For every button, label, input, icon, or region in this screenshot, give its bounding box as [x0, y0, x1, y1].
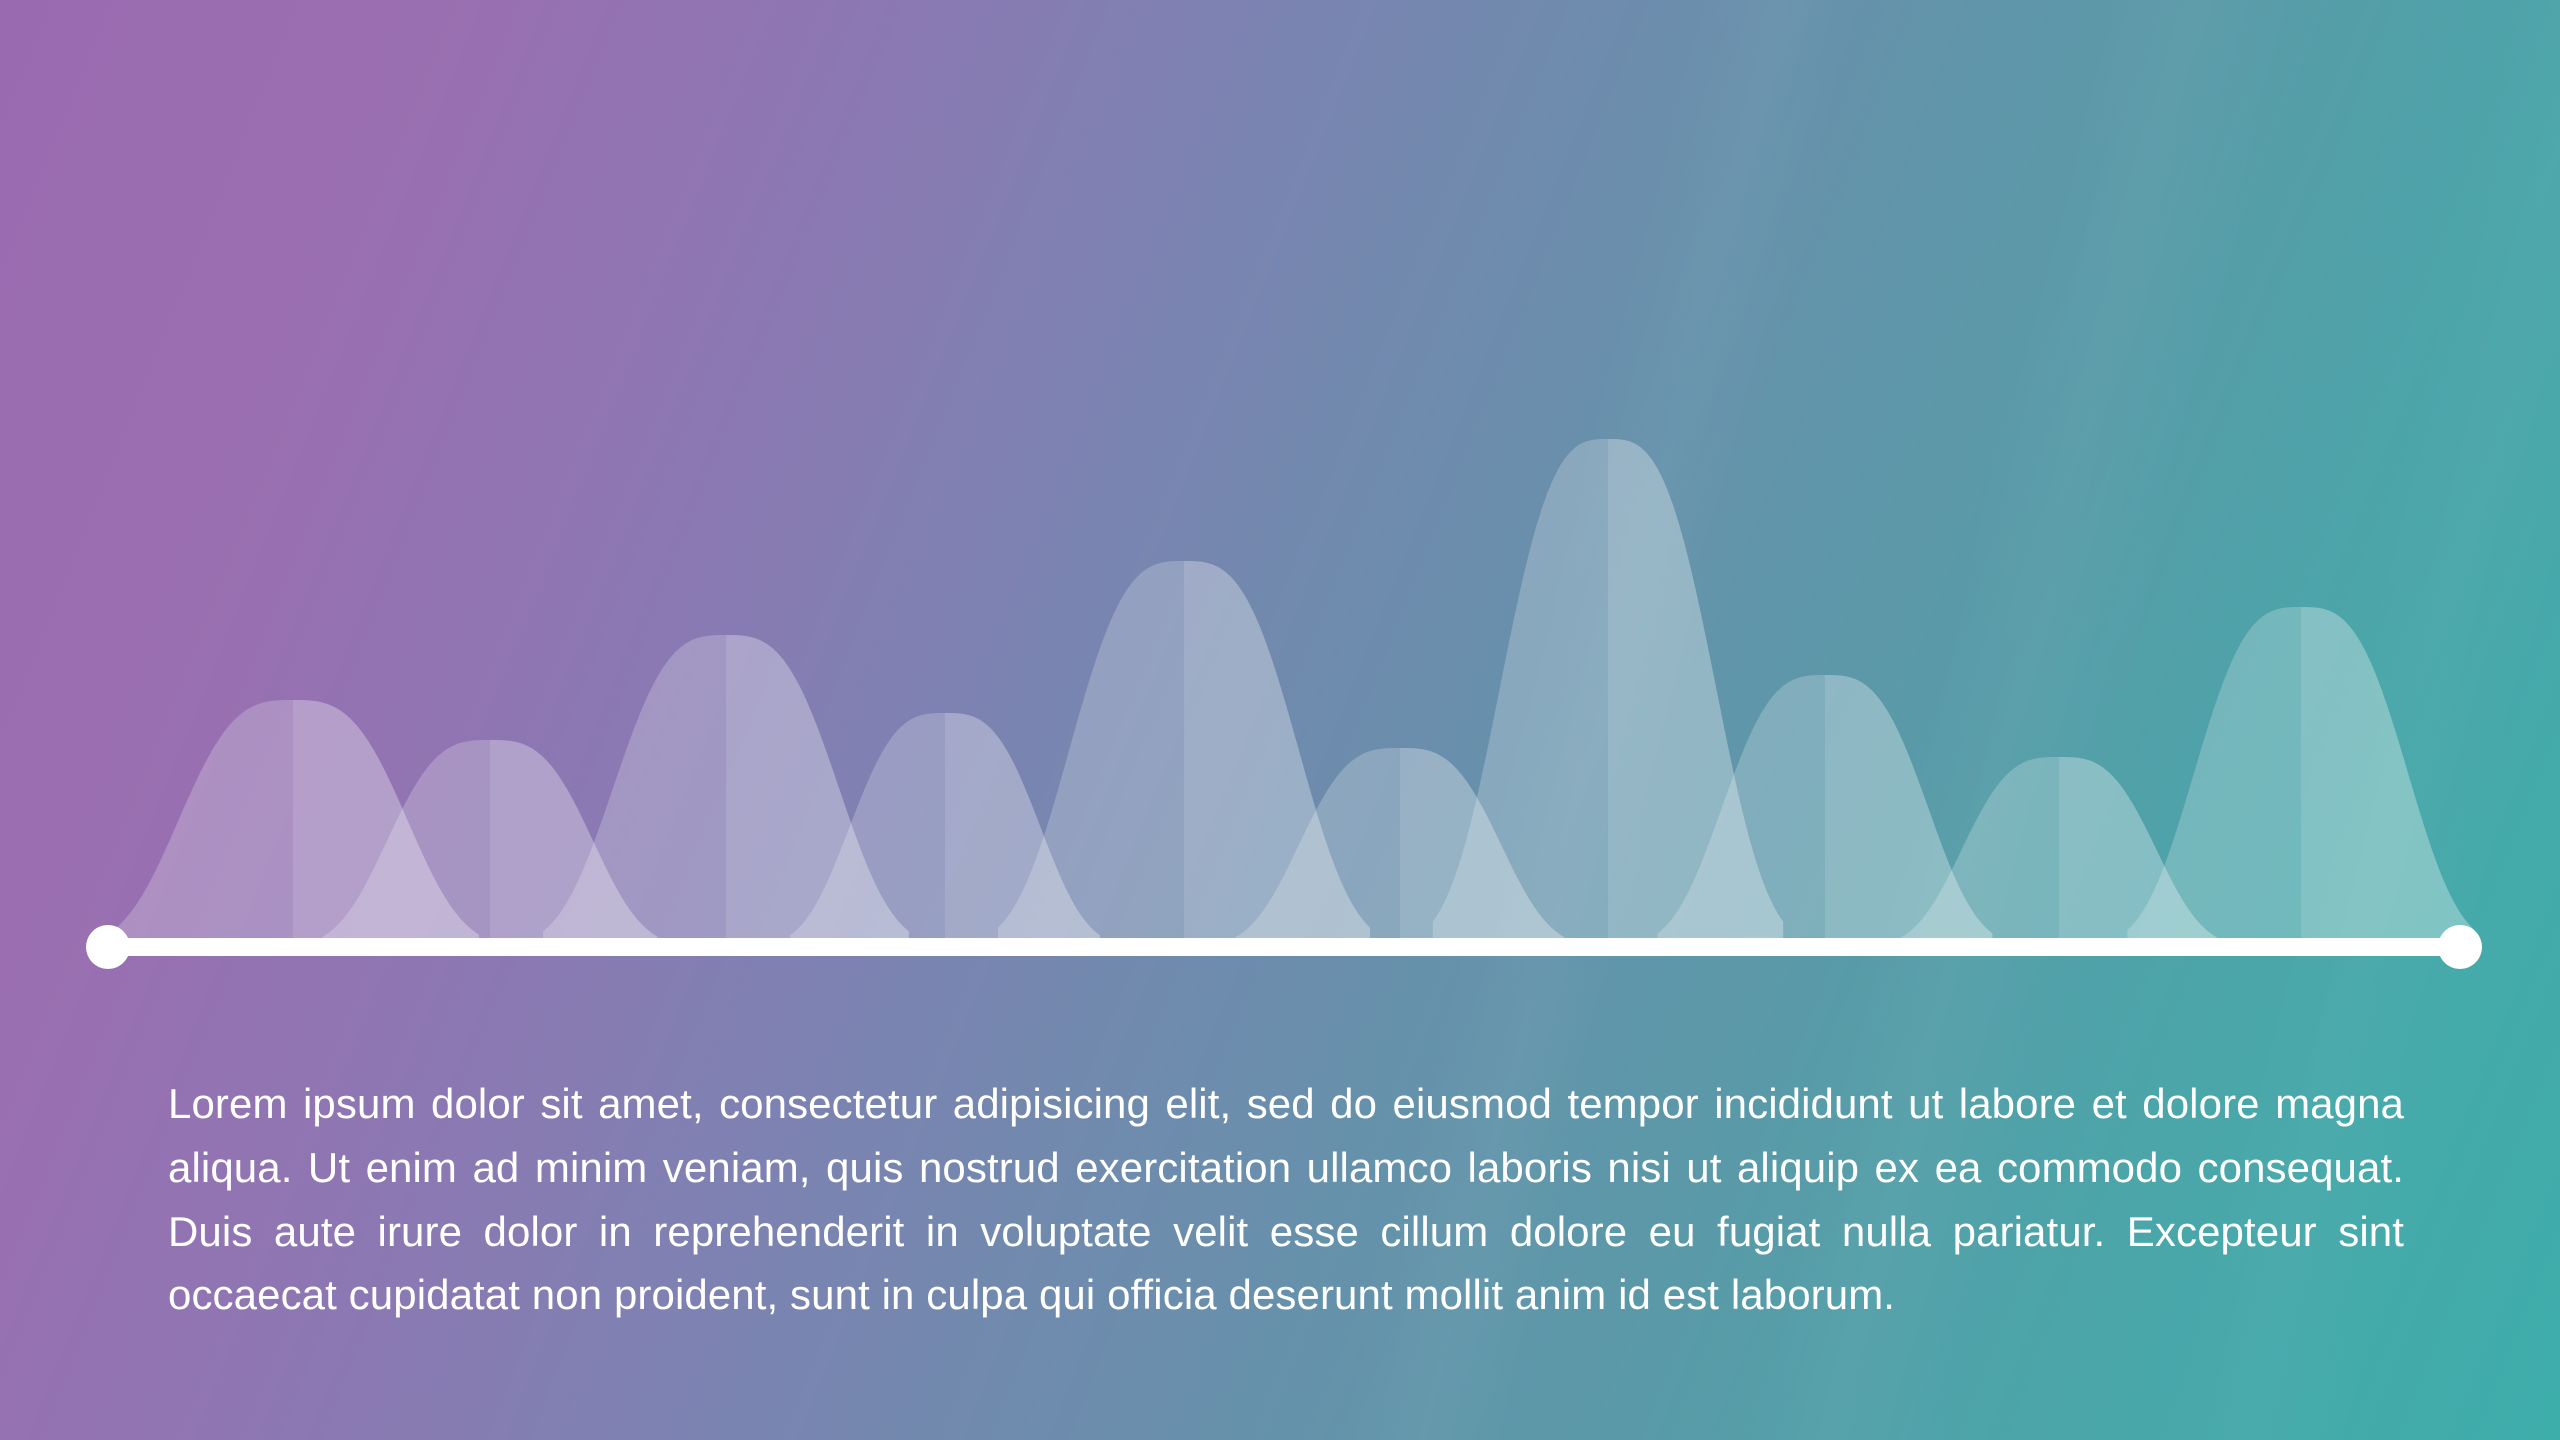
caption-text: Lorem ipsum dolor sit amet, consectetur … [168, 1072, 2404, 1327]
slider-handle-start[interactable] [86, 925, 130, 969]
slider-track[interactable] [108, 938, 2460, 956]
waveform-svg [0, 0, 2560, 960]
slider-handle-end[interactable] [2438, 925, 2482, 969]
waveform-chart [0, 0, 2560, 960]
waveform-peaks [107, 439, 2475, 947]
banner-root: Lorem ipsum dolor sit amet, consectetur … [0, 0, 2560, 1440]
